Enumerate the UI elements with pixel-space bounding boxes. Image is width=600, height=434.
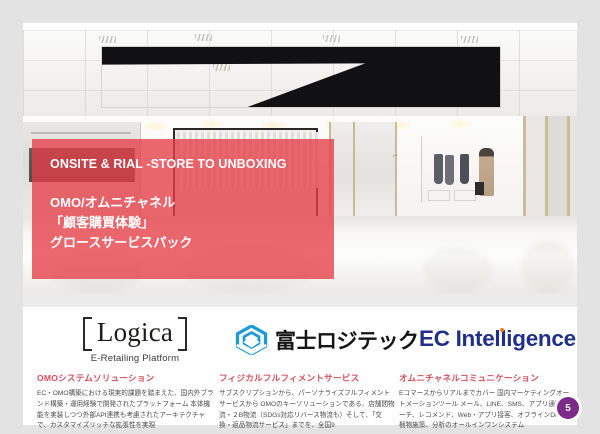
ceiling-vent-icon (99, 36, 116, 43)
garment (434, 154, 443, 184)
ceiling-surface (23, 30, 577, 122)
logica-wordmark: Logica (97, 319, 173, 346)
bracket-left-icon (83, 317, 92, 351)
service-column-omo: OMOシステムソリューション EC・OMO構築における現実的課題を踏まえた、国内… (37, 373, 215, 432)
hero-banner: ONSITE & RIAL -STORE TO UNBOXING OMO/オムニ… (32, 139, 334, 279)
shopping-bag (475, 182, 484, 195)
banner-eyebrow: ONSITE & RIAL -STORE TO UNBOXING (50, 157, 334, 171)
display-bench (454, 190, 476, 201)
services-section: Logica E-Retailing Platform 富士ロジテック EC I… (23, 307, 577, 425)
fuji-wordmark: 富士ロジテック (275, 325, 419, 355)
eci-accent-dot-icon (500, 328, 504, 332)
logo-fuji-logitech[interactable]: 富士ロジテック (235, 317, 410, 355)
column-heading: オムニチャネルコミュニケーション (399, 373, 575, 384)
wall-sign-icon: ⌐ (393, 150, 398, 160)
service-column-fulfillment: フィジカルフルフィメントサービス サブスクリプションから、パーソナライズフルフィ… (219, 373, 395, 432)
elevator-doors (523, 116, 577, 224)
page-number-badge: 5 (557, 397, 579, 419)
logica-wordmark-wrap: Logica (83, 317, 187, 349)
ceiling-vent-icon (461, 36, 478, 43)
banner-headline-line3: グロースサービスパック (50, 233, 334, 253)
service-column-communication: オムニチャネルコミュニケーション Eコマースからリアルまでカバー 国内マーケティ… (399, 373, 575, 432)
logica-tagline: E-Retailing Platform (55, 353, 215, 364)
eci-wordmark-wrap: EC Intelligence (419, 326, 594, 352)
banner-headline-line1: OMO/オムニチャネル (50, 193, 334, 213)
banner-headline: OMO/オムニチャネル 「顧客購買体験」 グロースサービスパック (50, 193, 334, 253)
logo-ec-intelligence[interactable]: EC Intelligence (419, 317, 594, 352)
garment (445, 155, 454, 185)
glass-door-panel (353, 122, 397, 226)
ceiling-vent-icon (323, 35, 340, 42)
display-bench (428, 190, 450, 201)
ceiling-panel-frame (101, 46, 501, 108)
column-heading: フィジカルフルフィメントサービス (219, 373, 395, 384)
column-body: EC・OMO構築における現実的課題を踏まえた、国内外ブランド構築・運用経験で開発… (37, 389, 215, 432)
bracket-right-icon (178, 317, 187, 351)
section-divider (23, 294, 577, 307)
partner-logos: Logica E-Retailing Platform 富士ロジテック EC I… (23, 317, 577, 373)
fuji-hexagon-swirl-icon (235, 325, 268, 355)
garment (460, 154, 469, 184)
logo-logica[interactable]: Logica E-Retailing Platform (55, 317, 215, 364)
ceiling-vent-icon (195, 34, 212, 41)
column-body: サブスクリプションから、パーソナライズフルフィメントサービスから OMOのキーソ… (219, 389, 395, 432)
spotlight-glow (141, 122, 167, 131)
column-body: Eコマースからリアルまでカバー 国内マーケティングオートメーションツール メール… (399, 389, 575, 432)
hero-image: ⌐ ONSITE & RIAL -STORE TO UNBOXING OMO/オ… (23, 30, 577, 294)
spotlight-glow (447, 120, 473, 129)
clothing-rack-alcove (421, 136, 481, 202)
eci-wordmark: EC Intelligence (419, 326, 576, 351)
banner-headline-line2: 「顧客購買体験」 (50, 213, 334, 233)
slide-canvas: ⌐ ONSITE & RIAL -STORE TO UNBOXING OMO/オ… (23, 23, 577, 425)
column-heading: OMOシステムソリューション (37, 373, 215, 384)
